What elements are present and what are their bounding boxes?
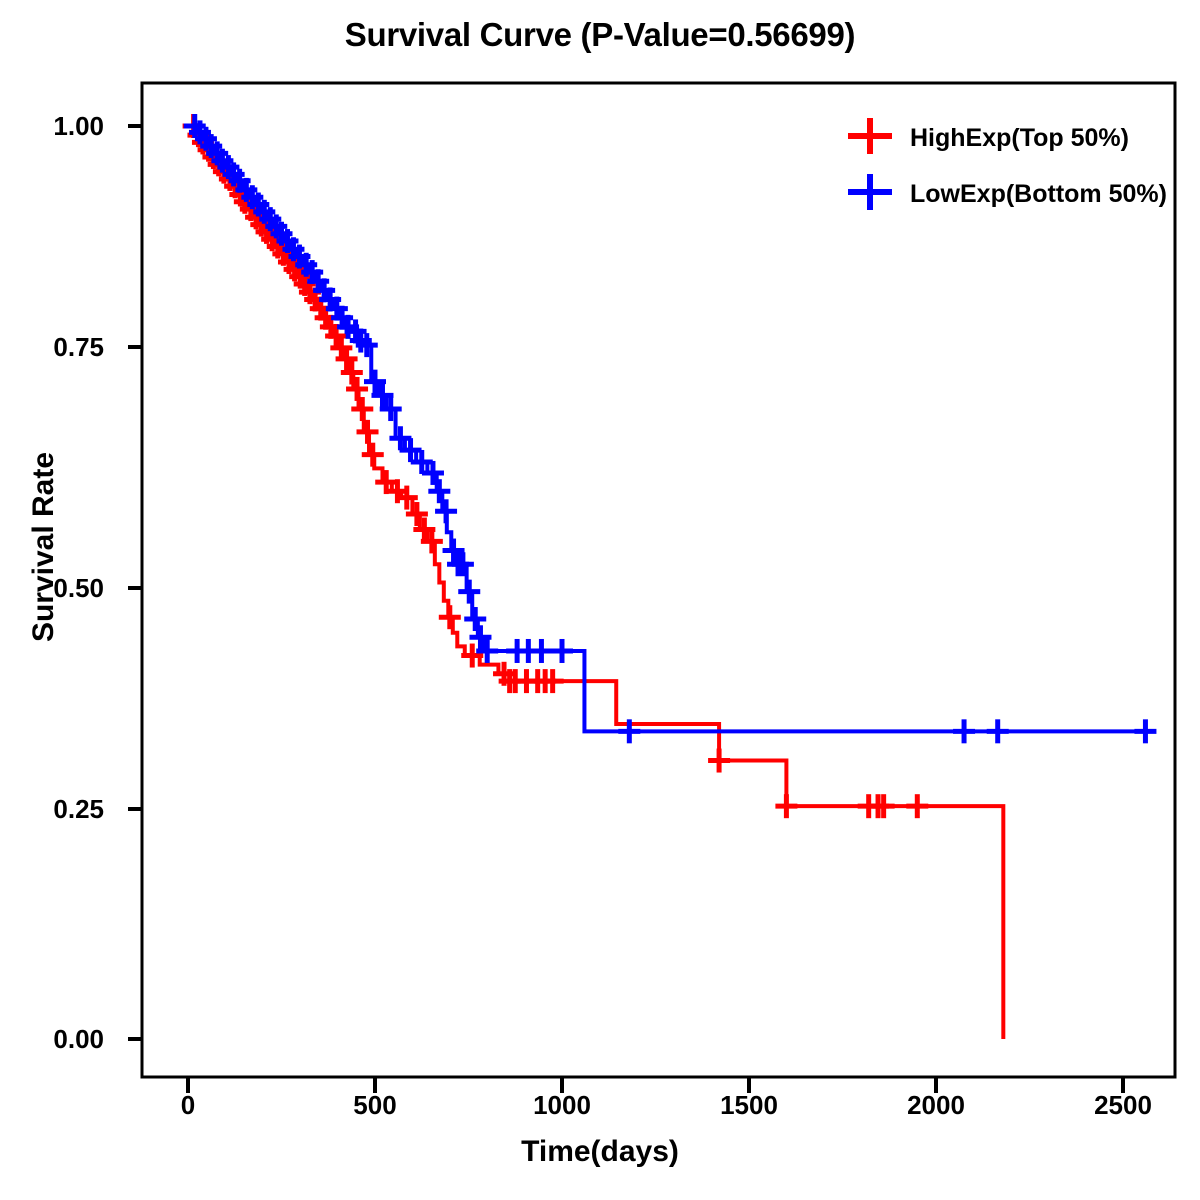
plot-canvas	[0, 0, 1200, 1200]
survival-curve-lowexp	[184, 114, 1157, 743]
legend-marker-lowexp	[848, 174, 892, 210]
survival-curve-figure: Survival Curve (P-Value=0.56699) Surviva…	[0, 0, 1200, 1200]
plot-panel-border	[142, 83, 1175, 1077]
step-line	[188, 126, 1145, 731]
survival-curve-highexp	[183, 114, 1004, 1039]
censor-marks	[183, 114, 929, 818]
legend-marker-highexp	[848, 118, 892, 154]
survival-curves	[183, 114, 1157, 1039]
x-axis-ticks	[188, 1077, 1123, 1093]
y-axis-ticks	[128, 126, 142, 1039]
censor-marks	[184, 114, 1157, 743]
